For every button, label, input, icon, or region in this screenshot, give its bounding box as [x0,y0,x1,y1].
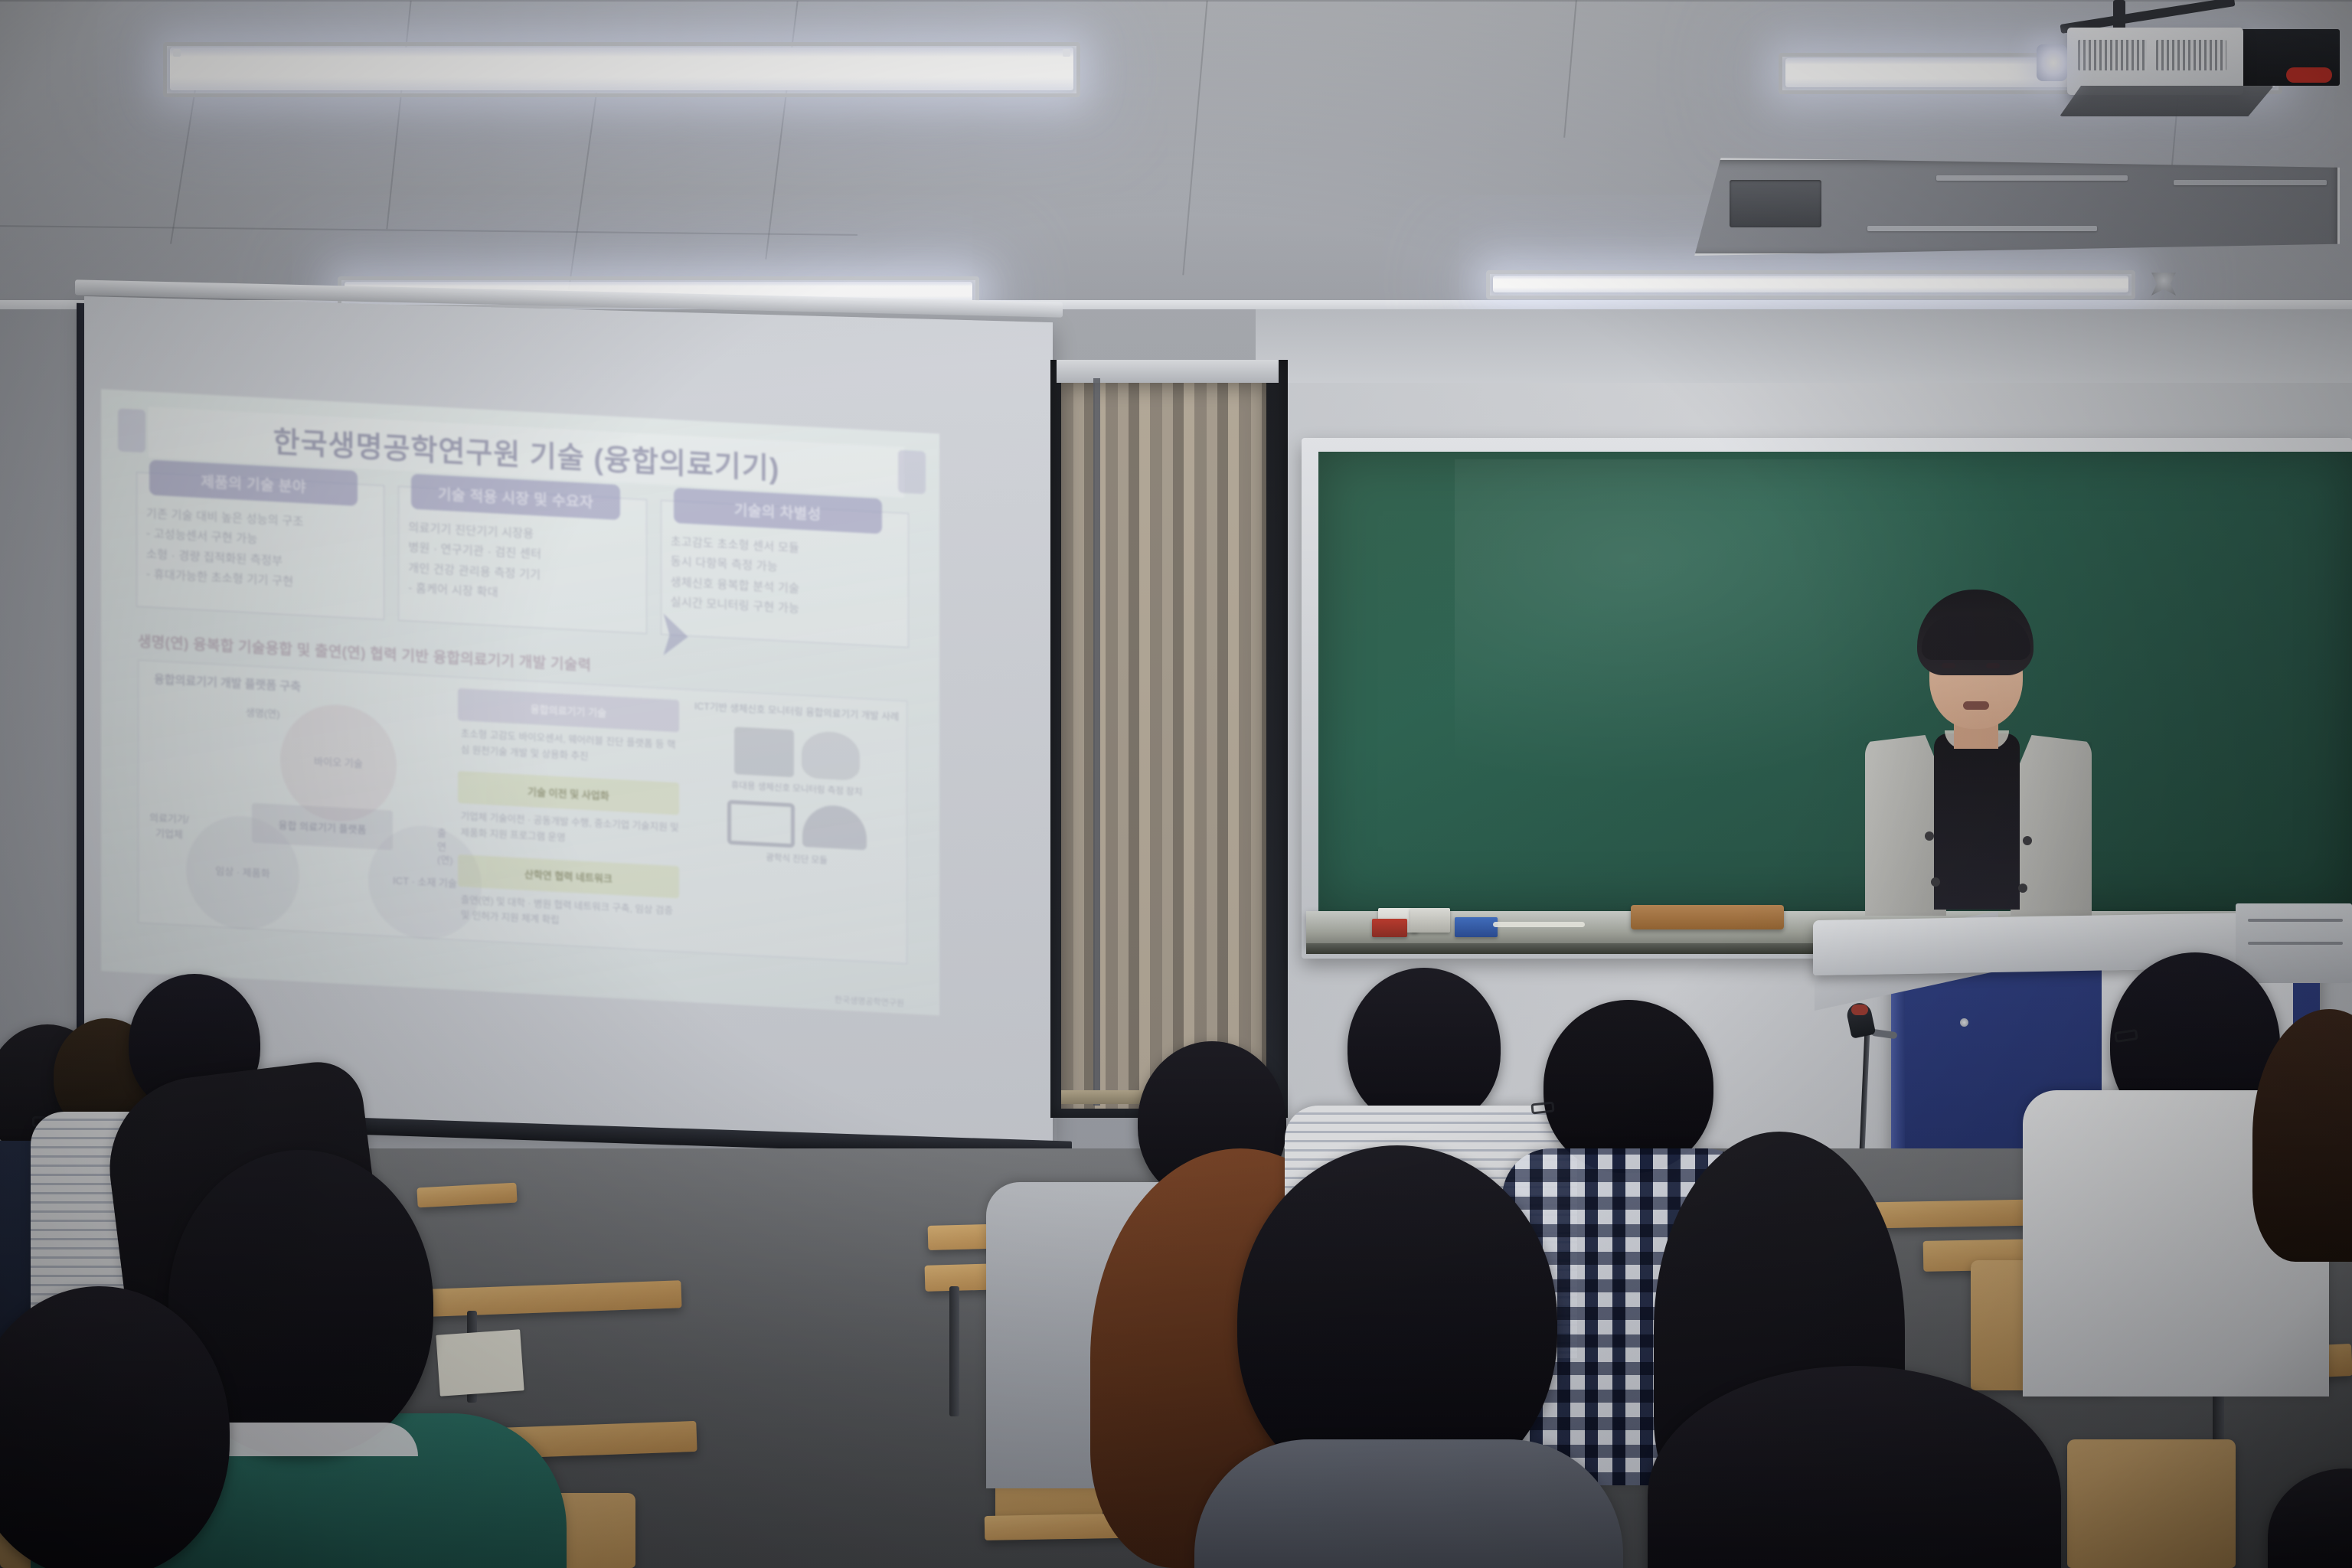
presenter-hair-front [1922,616,2030,660]
slide-diagram: 융합의료기기 개발 플랫폼 구축 생명(연) 의료기기/ 기업체 출연(연) 바… [139,661,453,939]
device-photo-1 [734,727,794,777]
slide-diagram-label-top: 생명(연) [246,706,280,721]
chalkboard [1318,452,2352,911]
presenter-mouth [1963,701,1989,710]
audience-person-13-body [1194,1439,1623,1568]
curtain-rail [1057,360,1279,383]
chalk-box-blue[interactable] [1455,917,1498,937]
device-photo-3 [727,799,795,848]
slide-diagram-label-left-2: 기업체 [155,827,183,841]
chalk-stick[interactable] [1493,922,1585,927]
slide-column-1-chip-label: 제품의 기술 분야 [201,470,305,496]
slide-photo-row-1 [691,724,902,783]
slide-side-items: 융합의료기기 기술 초소형 고감도 바이오센서, 웨어러블 진단 플랫폼 등 핵… [453,678,685,952]
side-cabinet-line-2 [2248,942,2343,945]
podium-screw [1960,1018,1968,1027]
projector-indicator [2286,67,2332,83]
chair-right-2[interactable] [2067,1439,2236,1568]
presenter-eye-left [1942,663,1955,668]
presenter [1860,590,2090,919]
window-curtain [1061,372,1266,1109]
slide-column-2: 기술 적용 시장 및 수요자 의료기기 진단기기 시장용 병원 · 연구기관 ·… [398,486,646,634]
audience-person-9-head [1543,1000,1713,1173]
device-photo-2 [802,730,860,781]
presenter-jacket-button-4 [2018,884,2027,893]
slide-column-3-chip-label: 기술의 차별성 [734,498,822,524]
slide-column-3: 기술의 차별성 초고감도 초소형 센서 모듈 동시 다항목 측정 가능 생체신호… [661,500,909,648]
chalkboard-eraser[interactable] [1631,905,1784,929]
slide-diagram-core: 융합 의료기기 플랫폼 [252,803,393,851]
slide-diagram-label-left-1: 의료기기/ [149,811,188,826]
ceiling-light-4 [1493,276,2128,292]
slide-lower-panel: 융합의료기기 개발 플랫폼 구축 생명(연) 의료기기/ 기업체 출연(연) 바… [138,660,907,965]
slide-side-text-1: 초소형 고감도 바이오센서, 웨어러블 진단 플랫폼 등 핵심 원천기술 개발 … [461,726,679,769]
microphone-tip [1851,1004,1868,1015]
audience-person-7-head [1347,968,1501,1127]
presenter-shirt [1934,733,2020,910]
slide-column-1: 제품의 기술 분야 기존 기술 대비 높은 성능의 구조 - 고성능센서 구현 … [136,472,384,620]
paper-on-desk[interactable] [436,1329,524,1396]
projector [2067,28,2243,95]
slide-photo-row-2 [691,798,902,854]
slide-content: 한국생명공학연구원 기술 (융합의료기기) 제품의 기술 분야 기존 기술 대비… [101,389,939,1015]
projector-base [2060,86,2274,116]
ceiling-light-1 [170,47,1073,90]
desk-center-leg-1 [949,1286,959,1416]
window-mullion-left [1093,378,1100,1106]
slide-footnote: 한국생명공학연구원 [835,993,904,1009]
chalk-box-gray[interactable] [1410,908,1450,933]
presenter-eye-right [1986,663,2000,668]
slide-side-text-2: 기업체 기술이전 · 공동개발 수행, 중소기업 기술지원 및 제품화 지원 프… [461,808,679,851]
slide-photo-heading: ICT기반 생체신호 모니터링 융합의료기기 개발 사례 [691,699,902,724]
presenter-jacket-button-2 [2023,836,2032,845]
projector-lens [2037,44,2067,81]
slide-side-chip-1: 융합의료기기 기술 [458,688,679,732]
slide-side-text-3: 출연(연) 및 대학 · 병원 협력 네트워크 구축, 임상 검증 및 인허가 … [461,892,679,935]
slide-photo-pane: ICT기반 생체신호 모니터링 융합의료기기 개발 사례 휴대용 생체신호 모니… [685,690,906,963]
slide-column-2-chip-label: 기술 적용 시장 및 수요자 [438,482,593,511]
chalk-box-red[interactable] [1372,919,1407,937]
presenter-jacket-button-3 [1931,877,1940,887]
slide-side-chip-3: 산학연 협력 네트워크 [458,854,679,897]
classroom-scene: 한국생명공학연구원 기술 (융합의료기기) 제품의 기술 분야 기존 기술 대비… [0,0,2352,1568]
slide-side-chip-2: 기술 이전 및 사업화 [458,771,679,815]
presenter-jacket-button-1 [1925,831,1934,841]
device-photo-4 [802,804,867,850]
side-cabinet-line-1 [2248,919,2343,922]
slide-diagram-title: 융합의료기기 개발 플랫폼 구축 [154,671,446,702]
wall-right-upper-band [1256,309,2352,383]
ceiling-ac-panel [1681,158,2340,256]
slide-three-columns: 제품의 기술 분야 기존 기술 대비 높은 성능의 구조 - 고성능센서 구현 … [136,472,909,648]
